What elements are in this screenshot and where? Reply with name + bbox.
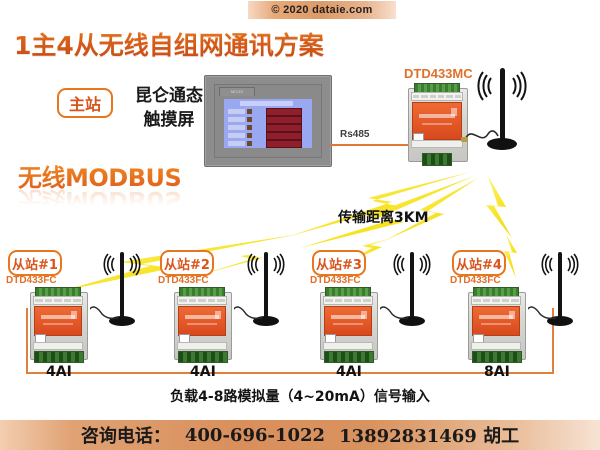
hmi-row-tag (228, 133, 245, 138)
slave-badge-3: 从站#3 (312, 250, 366, 276)
slave-channels-2: 4AI (190, 364, 216, 380)
brand-logo-icon (215, 311, 221, 319)
slave-badge-1: 从站#1 (8, 250, 62, 276)
module-label-strip-top (33, 296, 83, 305)
transmission-distance-label: 传输距离3KM (338, 207, 429, 227)
hmi-row-tag (228, 117, 245, 122)
slave-module-4 (468, 292, 524, 358)
module-info-strip (33, 342, 83, 350)
slave-model-3: DTD433FC (310, 275, 361, 286)
slave-antenna-2 (234, 248, 314, 328)
hmi-row-bar (266, 132, 302, 140)
contact-landline: 400-696-1022 (185, 425, 325, 446)
wireless-modbus-wordmark: 无线MODBUS 无线MODBUS (18, 165, 181, 213)
module-terminal-bottom (324, 351, 374, 363)
slave-module-3 (320, 292, 376, 358)
hmi-screen-tab: MCGS (219, 87, 255, 96)
hmi-screen-header (240, 101, 293, 106)
hmi-touch-panel: MCGS (204, 75, 332, 167)
contact-mobile: 13892831469 胡工 (339, 422, 519, 448)
rs485-label: Rs485 (340, 129, 369, 140)
load-description: 负载4-8路模拟量（4~20mA）信号输入 (0, 386, 600, 406)
hmi-row-indicator (247, 125, 252, 130)
brand-logo-icon (509, 311, 515, 319)
hmi-row-tag (228, 109, 245, 114)
wireless-modbus-reflection: 无线MODBUS (18, 187, 181, 213)
module-terminal-bottom (178, 351, 228, 363)
slave-model-4: DTD433FC (450, 275, 501, 286)
brand-logo-icon (71, 311, 77, 319)
module-label-strip-top (471, 296, 521, 305)
hmi-screen-rows (228, 108, 308, 145)
module-front-label (34, 306, 82, 336)
module-front-label (324, 306, 372, 336)
hmi-caption: 昆仑通态 触摸屏 (125, 84, 213, 132)
hmi-row-indicator (247, 133, 252, 138)
hmi-row (228, 140, 308, 147)
slave-module-1 (30, 292, 86, 358)
page-title: 1主4从无线自组网通讯方案 (14, 26, 324, 62)
slave-module-2 (174, 292, 230, 358)
module-info-strip (323, 342, 373, 350)
slave-badge-2: 从站#2 (160, 250, 214, 276)
contact-band: 咨询电话： 400-696-1022 13892831469 胡工 (0, 420, 600, 450)
hmi-row (228, 116, 308, 123)
hmi-row (228, 108, 308, 115)
module-terminal-bottom (34, 351, 84, 363)
slave-channels-4: 8AI (484, 364, 510, 380)
module-connector-bottom (422, 153, 452, 166)
hmi-caption-line1: 昆仑通态 (125, 84, 213, 108)
hmi-row-indicator (247, 117, 252, 122)
copyright-banner: © 2020 dataie.com (248, 1, 396, 19)
slave-channels-1: 4AI (46, 364, 72, 380)
module-label-strip-top (177, 296, 227, 305)
module-info-strip (177, 342, 227, 350)
slave-antenna-3 (380, 248, 460, 328)
hmi-row-indicator (247, 141, 252, 146)
hmi-row-indicator (247, 109, 252, 114)
module-label-strip-top (323, 296, 373, 305)
hmi-bezel-inner: MCGS (214, 84, 322, 158)
hmi-row-tag (228, 141, 245, 146)
hmi-caption-line2: 触摸屏 (125, 108, 213, 132)
module-front-label (178, 306, 226, 336)
diagram-canvas: © 2020 dataie.com 1主4从无线自组网通讯方案 主站 昆仑通态 … (0, 0, 600, 450)
slave-badge-4: 从站#4 (452, 250, 506, 276)
hmi-row-bar (266, 124, 302, 132)
hmi-row (228, 124, 308, 131)
hmi-row-bar (266, 116, 302, 124)
rs485-cable (330, 144, 416, 146)
hmi-row-bar (266, 148, 302, 149)
hmi-screen (224, 99, 312, 148)
contact-prefix: 咨询电话： (81, 422, 171, 448)
master-antenna-graphic (455, 62, 565, 152)
slave-antenna-1 (90, 248, 170, 328)
hmi-row-tag (228, 125, 245, 130)
module-front-label (472, 306, 520, 336)
master-station-badge: 主站 (57, 88, 113, 118)
brand-logo-icon (361, 311, 367, 319)
hmi-row-bar (266, 140, 302, 148)
slave-model-1: DTD433FC (6, 275, 57, 286)
slave-antenna-4 (528, 248, 600, 328)
slave-channels-3: 4AI (336, 364, 362, 380)
module-terminal-bottom (472, 351, 522, 363)
hmi-row (228, 132, 308, 139)
slave-model-2: DTD433FC (158, 275, 209, 286)
hmi-row-bar (266, 108, 302, 116)
module-info-strip (471, 342, 521, 350)
